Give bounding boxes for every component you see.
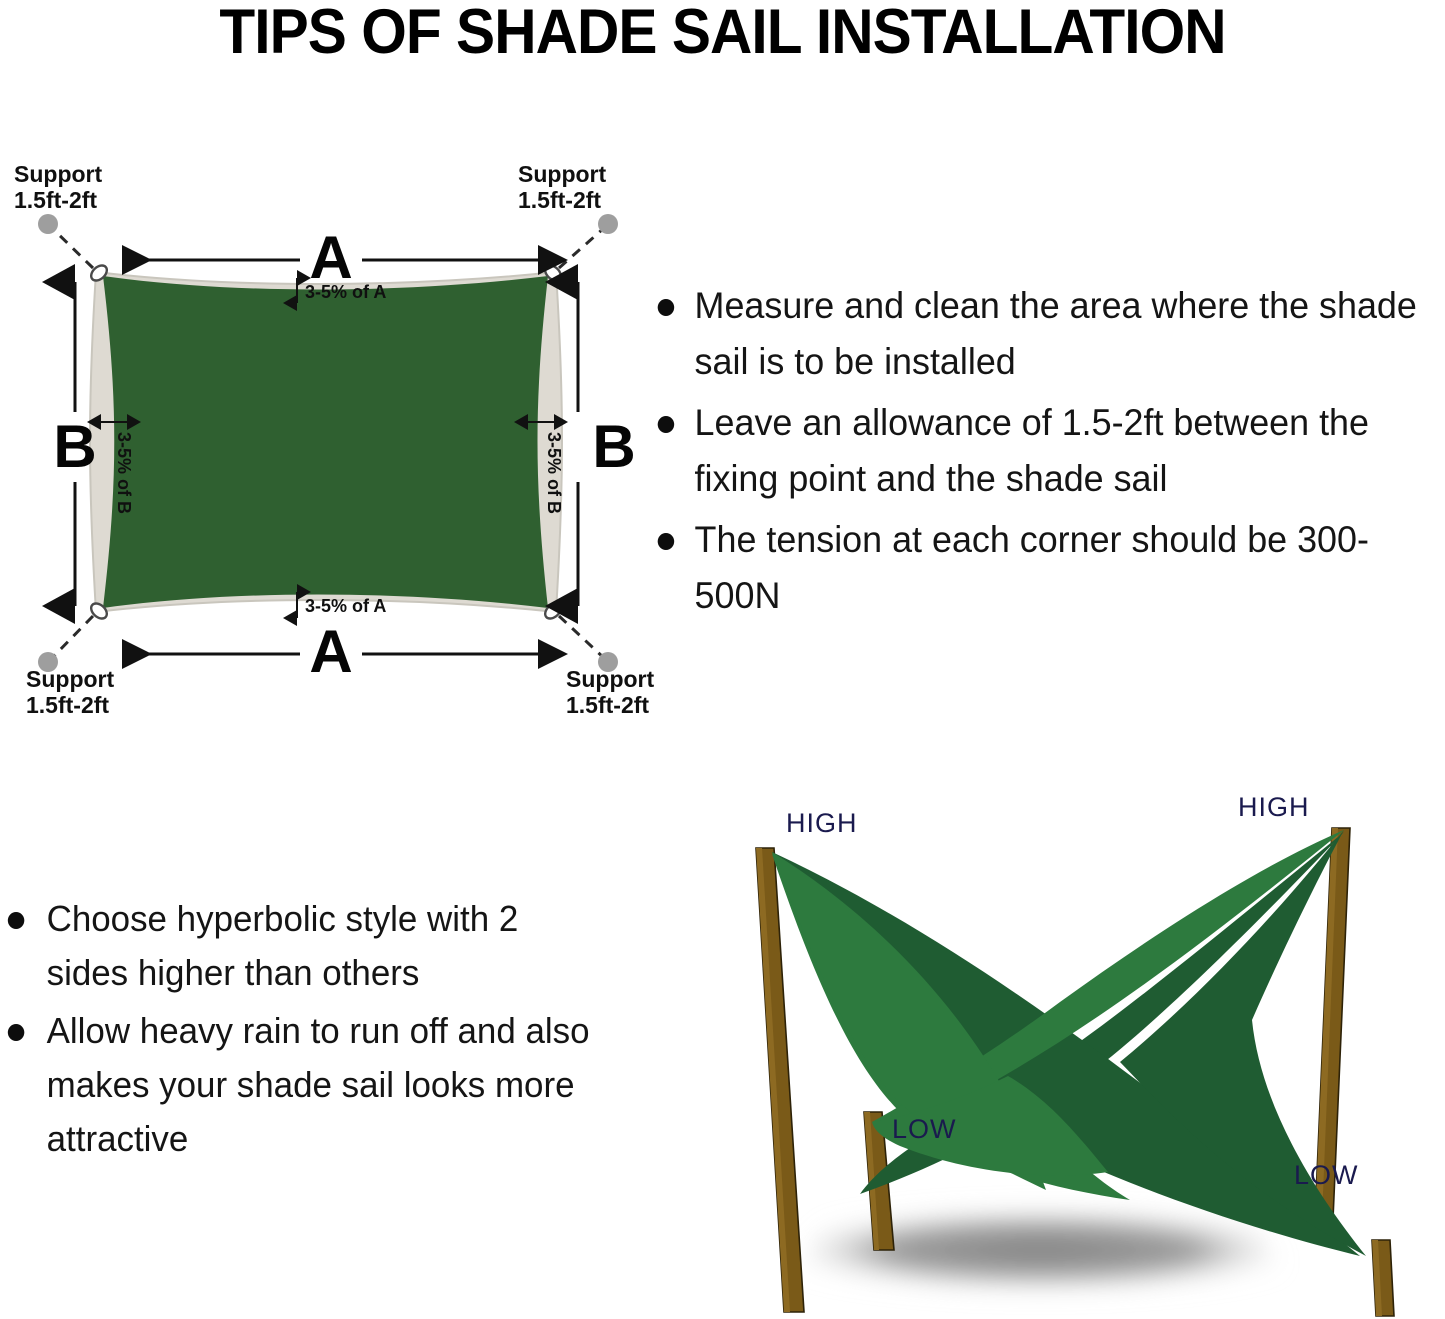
- svg-text:1.5ft-2ft: 1.5ft-2ft: [566, 692, 649, 718]
- bullet-dot-icon: [658, 416, 674, 433]
- dimension-label-b-left: B: [53, 413, 96, 480]
- support-lead-top-left: [52, 228, 93, 268]
- rect-sail-diagram: Support 1.5ft-2ft Support 1.5ft-2ft Supp…: [0, 160, 660, 730]
- page-title: TIPS OF SHADE SAIL INSTALLATION: [51, 0, 1395, 68]
- svg-text:Support: Support: [14, 161, 102, 187]
- list-item: Leave an allowance of 1.5-2ft between th…: [648, 395, 1424, 506]
- list-item: The tension at each corner should be 300…: [648, 512, 1424, 623]
- sail-fabric: [103, 276, 548, 608]
- dimension-label-a-bottom: A: [309, 618, 352, 685]
- svg-text:1.5ft-2ft: 1.5ft-2ft: [518, 187, 601, 213]
- support-lead-bottom-right: [559, 616, 604, 658]
- hyperbolic-sail-diagram: HIGH HIGH LOW LOW: [660, 770, 1445, 1319]
- support-label-bottom-right: Support 1.5ft-2ft: [566, 666, 654, 718]
- tip-text: Choose hyperbolic style with 2 sides hig…: [47, 898, 519, 993]
- corner-label-left-high: HIGH: [786, 808, 858, 838]
- tip-text: Allow heavy rain to run off and also mak…: [47, 1010, 590, 1159]
- corner-label-right-low: LOW: [1294, 1160, 1359, 1190]
- svg-text:1.5ft-2ft: 1.5ft-2ft: [14, 187, 97, 213]
- support-label-top-left: Support 1.5ft-2ft: [14, 161, 102, 213]
- support-dot-top-left: [38, 214, 58, 234]
- dimension-label-b-right: B: [592, 413, 635, 480]
- curve-label-right: 3-5% of B: [544, 432, 564, 514]
- curve-label-left: 3-5% of B: [114, 432, 134, 514]
- list-item: Choose hyperbolic style with 2 sides hig…: [2, 892, 603, 1000]
- dimension-label-a-top: A: [309, 224, 352, 291]
- svg-text:Support: Support: [26, 666, 114, 692]
- list-item: Measure and clean the area where the sha…: [648, 278, 1424, 389]
- support-lead-bottom-left: [52, 616, 93, 658]
- support-label-top-right: Support 1.5ft-2ft: [518, 161, 606, 213]
- svg-text:Support: Support: [518, 161, 606, 187]
- bullet-dot-icon: [658, 533, 674, 550]
- support-label-bottom-left: Support 1.5ft-2ft: [26, 666, 114, 718]
- tip-text: The tension at each corner should be 300…: [695, 519, 1369, 616]
- bullet-dot-icon: [658, 299, 674, 316]
- support-dot-top-right: [598, 214, 618, 234]
- tip-text: Measure and clean the area where the sha…: [695, 285, 1417, 382]
- bullet-dot-icon: [8, 1024, 24, 1041]
- corner-label-right-high: HIGH: [1238, 792, 1310, 822]
- hyperbolic-style-tips-list: Choose hyperbolic style with 2 sides hig…: [2, 892, 622, 1170]
- curve-label-top: 3-5% of A: [305, 282, 386, 302]
- svg-text:1.5ft-2ft: 1.5ft-2ft: [26, 692, 109, 718]
- list-item: Allow heavy rain to run off and also mak…: [2, 1004, 603, 1166]
- pole-right-low: [1372, 1240, 1394, 1316]
- support-lead-top-right: [559, 228, 604, 268]
- corner-label-left-low: LOW: [892, 1114, 957, 1144]
- bullet-dot-icon: [8, 912, 24, 929]
- svg-text:Support: Support: [566, 666, 654, 692]
- installation-tips-list: Measure and clean the area where the sha…: [648, 278, 1445, 629]
- tip-text: Leave an allowance of 1.5-2ft between th…: [695, 402, 1369, 499]
- curve-label-bottom: 3-5% of A: [305, 596, 386, 616]
- infographic-page: TIPS OF SHADE SAIL INSTALLATION: [0, 0, 1445, 1319]
